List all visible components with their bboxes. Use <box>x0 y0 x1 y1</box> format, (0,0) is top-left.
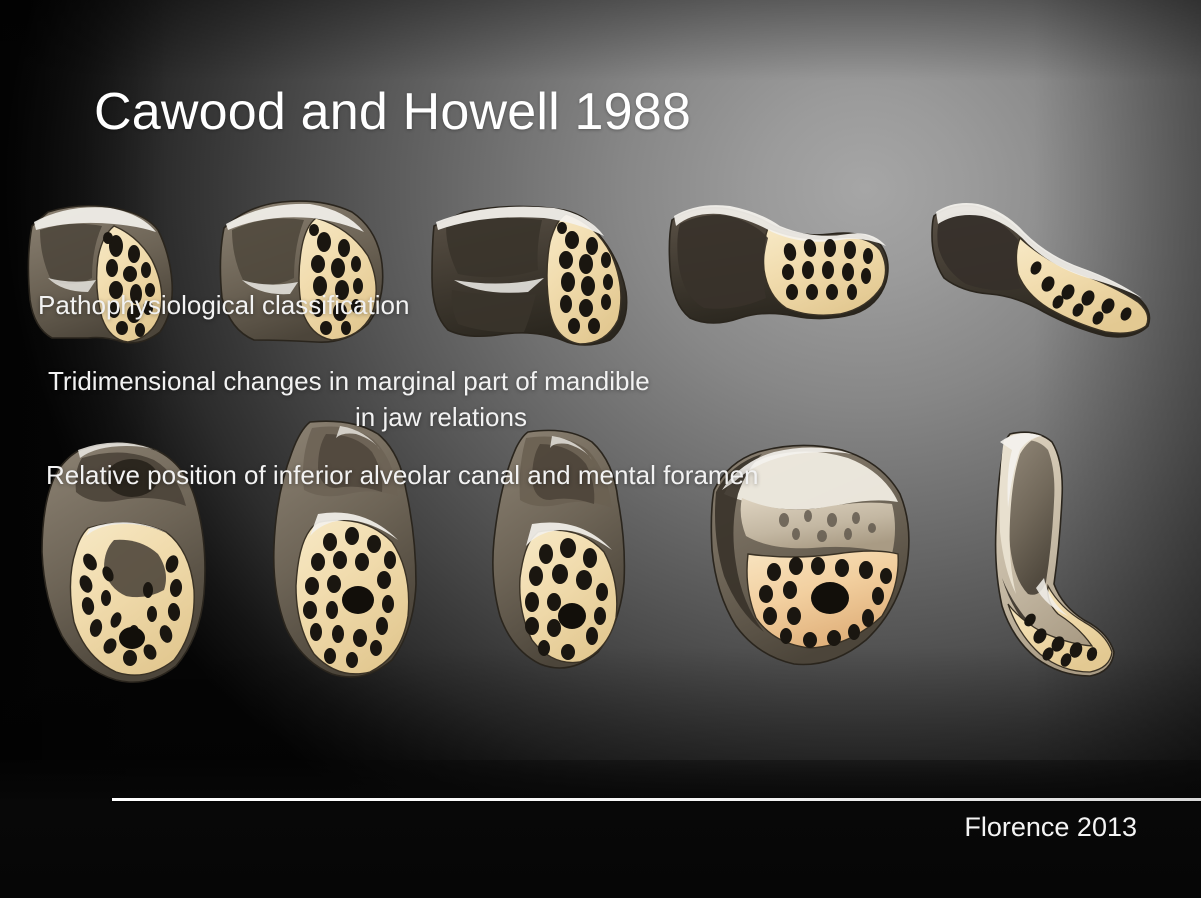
body-line-in-jaw-relations: in jaw relations <box>355 402 527 433</box>
footer-divider <box>112 798 1201 801</box>
specimen-upper-4 <box>664 198 896 344</box>
specimen-upper-3 <box>424 198 640 350</box>
inferior-alveolar-canal <box>811 582 849 614</box>
specimen-upper-1 <box>18 196 194 348</box>
inferior-alveolar-canal <box>342 586 374 614</box>
specimen-lower-2 <box>248 418 434 688</box>
presentation-slide: Cawood and Howell 1988 Pathophysiologica… <box>0 0 1201 898</box>
soft-tissue-shadow-2 <box>452 290 536 332</box>
soft-tissue-shadow <box>232 218 304 285</box>
soft-tissue-shadow <box>446 218 542 277</box>
footer-label: Florence 2013 <box>964 812 1137 843</box>
body-line-relative-position-canal-foramen: Relative position of inferior alveolar c… <box>46 460 759 491</box>
soft-tissue-shadow <box>677 215 768 309</box>
inferior-alveolar-canal <box>558 603 586 629</box>
page-title: Cawood and Howell 1988 <box>94 82 691 142</box>
specimen-upper-2 <box>212 194 398 350</box>
body-line-tridimensional-changes: Tridimensional changes in marginal part … <box>48 366 650 397</box>
body-line-pathophysiological-classification: Pathophysiological classification <box>38 290 409 321</box>
inferior-alveolar-canal <box>119 627 145 649</box>
specimen-upper-5 <box>924 198 1158 350</box>
specimen-lower-5 <box>944 428 1134 690</box>
